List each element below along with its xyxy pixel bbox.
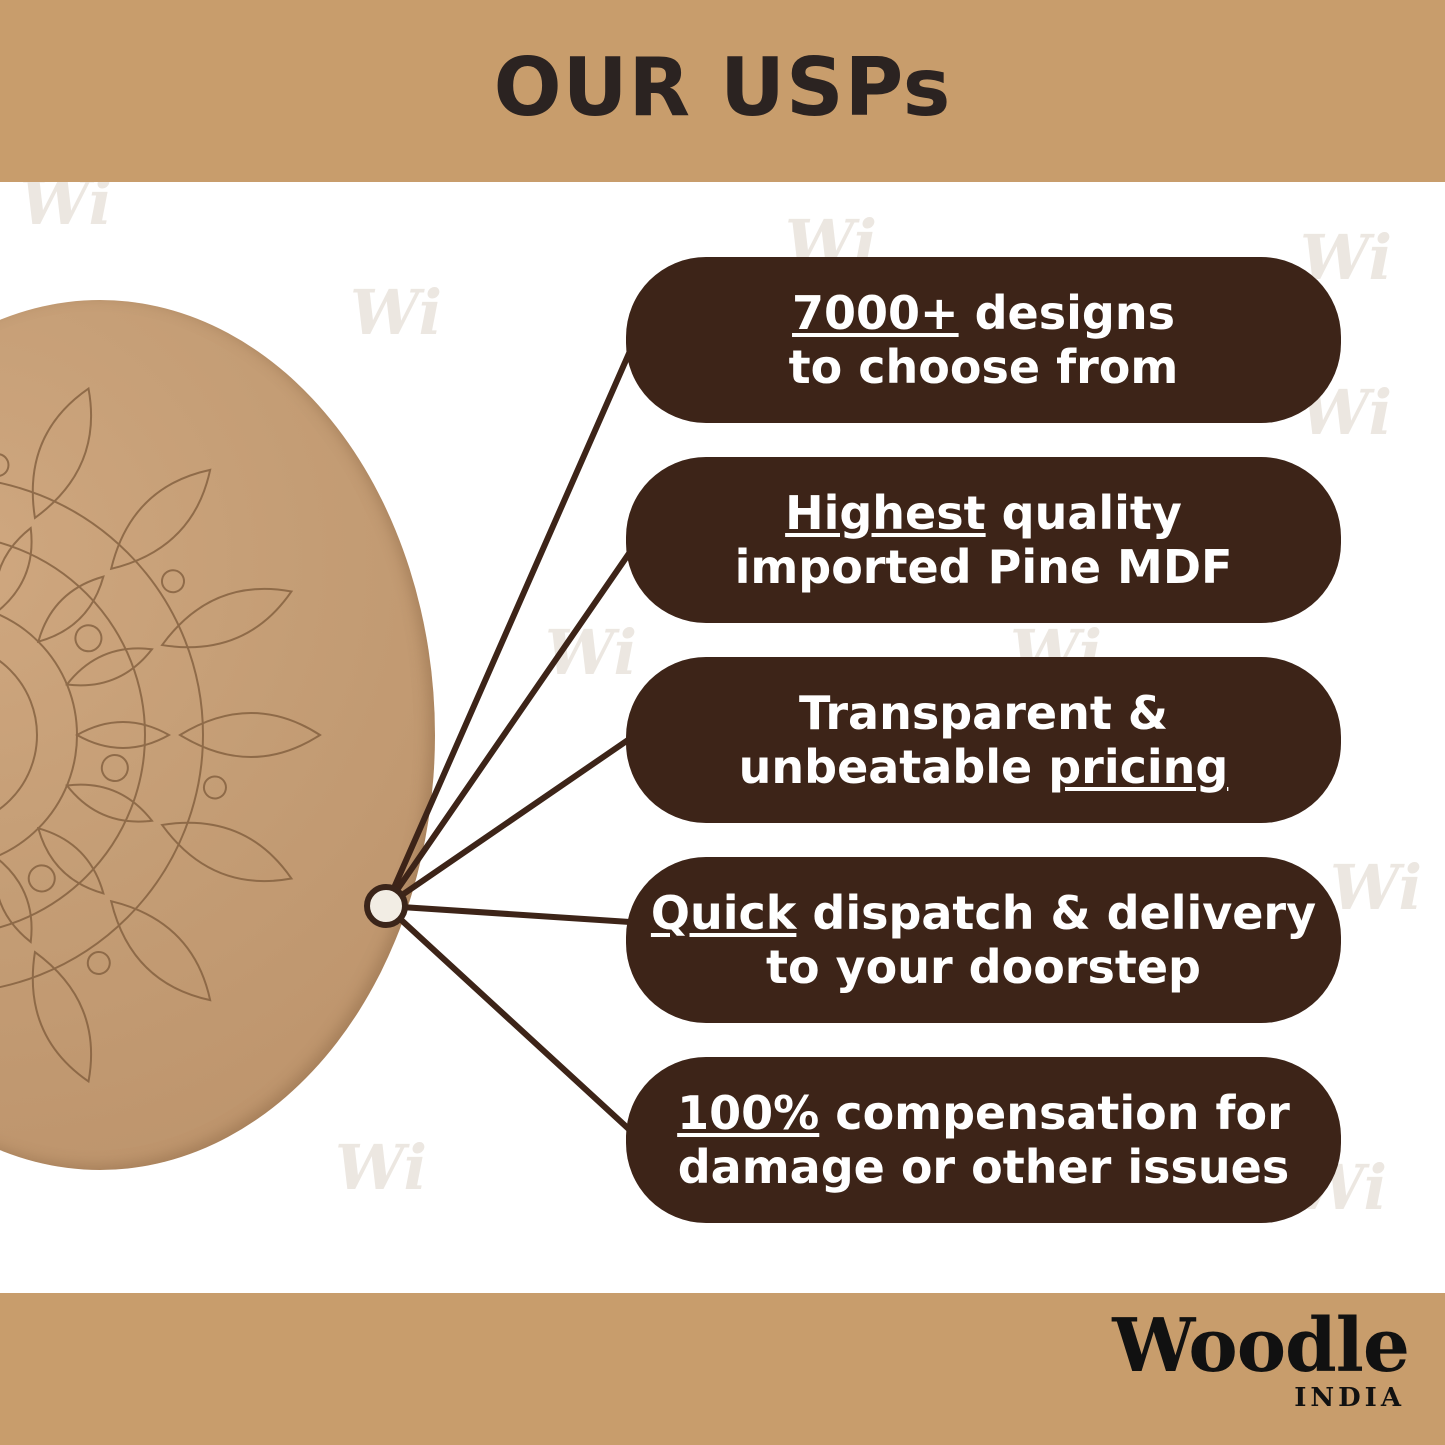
usp-pill-4[interactable]: Quick dispatch & delivery to your doorst… xyxy=(626,857,1341,1023)
footer-band: Woodle INDIA xyxy=(0,1293,1445,1445)
usp-3-highlight: pricing xyxy=(1048,740,1228,794)
usp-2-highlight: Highest xyxy=(785,486,986,540)
usp-1-line2: to choose from xyxy=(789,340,1179,394)
diagram-canvas: Wi Wi Wi Wi Wi Wi Wi Wi Wi Wi xyxy=(0,182,1445,1293)
usp-5-highlight: 100% xyxy=(677,1086,819,1140)
usp-1-highlight: 7000+ xyxy=(792,286,959,340)
usp-3-line2-prefix: unbeatable xyxy=(739,740,1049,794)
connector-line-2 xyxy=(386,552,630,906)
usp-2-line2: imported Pine MDF xyxy=(735,540,1233,594)
usp-3-line1: Transparent & xyxy=(799,686,1168,740)
usp-pill-2[interactable]: Highest quality imported Pine MDF xyxy=(626,457,1341,623)
usp-4-line2: to your doorstep xyxy=(766,940,1201,994)
poster-root: OUR USPs Wi Wi Wi Wi Wi Wi Wi Wi Wi Wi xyxy=(0,0,1445,1445)
usp-1-line1-rest: designs xyxy=(959,286,1175,340)
usp-5-line2: damage or other issues xyxy=(678,1140,1289,1194)
brand-name: Woodle xyxy=(1112,1309,1409,1383)
usp-4-line1-rest: dispatch & delivery xyxy=(796,886,1316,940)
usp-2-line1-rest: quality xyxy=(986,486,1182,540)
usp-pill-1[interactable]: 7000+ designs to choose from xyxy=(626,257,1341,423)
usp-4-highlight: Quick xyxy=(651,886,796,940)
page-title: OUR USPs xyxy=(494,48,952,134)
header-band: OUR USPs xyxy=(0,0,1445,182)
usp-pill-5[interactable]: 100% compensation for damage or other is… xyxy=(626,1057,1341,1223)
usp-5-line1-rest: compensation for xyxy=(819,1086,1290,1140)
connector-line-5 xyxy=(386,906,632,1132)
usp-pill-3[interactable]: Transparent & unbeatable pricing xyxy=(626,657,1341,823)
hub-node xyxy=(364,884,408,928)
connector-line-4 xyxy=(386,906,630,922)
brand-logo: Woodle INDIA xyxy=(1112,1309,1409,1411)
